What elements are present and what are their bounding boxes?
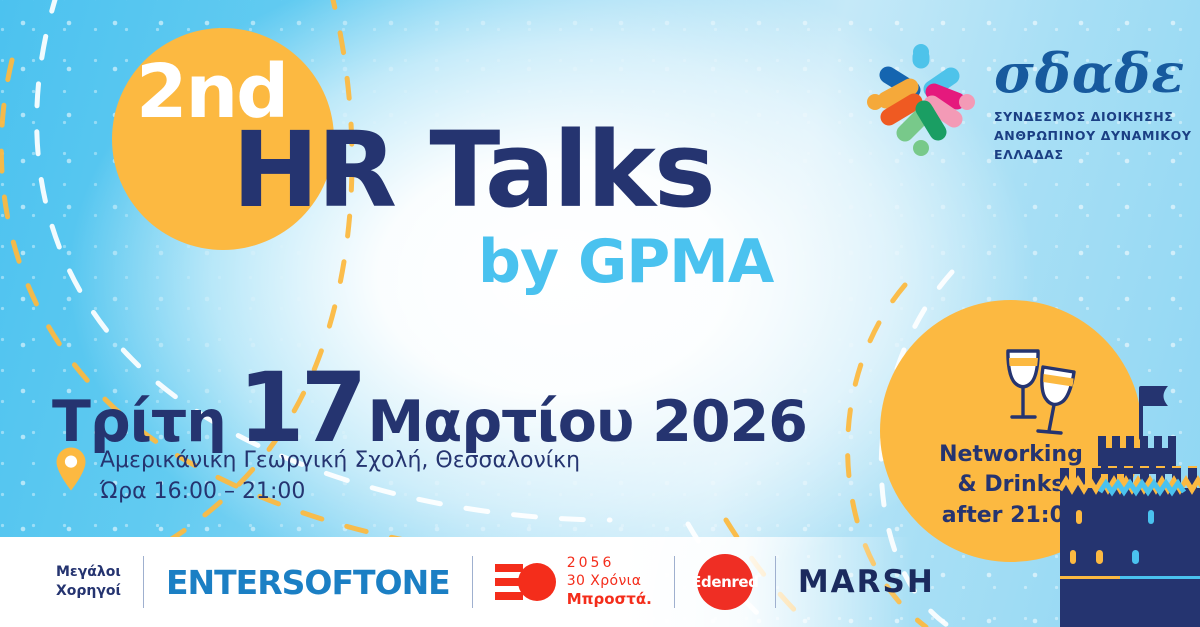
sponsor-marsh[interactable]: MARSH	[798, 564, 935, 600]
marsh-wordmark: MARSH	[798, 564, 935, 600]
organizer-wordmark: σδαδε	[994, 46, 1191, 100]
sponsor-edenred[interactable]: Edenred	[697, 554, 753, 610]
sponsor-divider	[143, 556, 144, 608]
organizer-subtitle-line-3: ΕΛΛΑΔΑΣ	[994, 146, 1191, 165]
organizer-subtitle-line-1: ΣΥΝΔΕΣΜΟΣ ΔΙΟΙΚΗΣΗΣ	[994, 108, 1191, 127]
sponsor-entersoft-one[interactable]: ENTERSOFTONE	[166, 563, 450, 602]
sponsors-label-line-2: Χορηγοί	[56, 582, 121, 601]
page-title: HR Talks	[232, 118, 714, 222]
organizer-subtitle-line-2: ΑΝΘΡΩΠΙΝΟΥ ΔΥΝΑΜΙΚΟΥ	[994, 127, 1191, 146]
title-byline: by GPMA	[478, 232, 773, 292]
sponsors-label-line-1: Μεγάλοι	[56, 563, 121, 582]
sponsor-bar: Μεγάλοι Χορηγοί ENTERSOFTONE 2056 30 Χρό…	[0, 537, 1200, 627]
sponsors-label: Μεγάλοι Χορηγοί	[56, 563, 121, 601]
venue-name: Αμερικάνικη Γεωργική Σχολή, Θεσσαλονίκη	[100, 445, 580, 476]
thirty-line-3: Μπροστά.	[567, 590, 652, 609]
thirty-line-2: 30 Χρόνια	[567, 573, 652, 591]
venue-block: Αμερικάνικη Γεωργική Σχολή, Θεσσαλονίκη …	[56, 445, 580, 507]
sponsor-divider	[674, 556, 675, 608]
location-pin-icon	[56, 447, 86, 491]
thirty-line-1: 2056	[567, 555, 652, 573]
organizer-subtitle: ΣΥΝΔΕΣΜΟΣ ΔΙΟΙΚΗΣΗΣ ΑΝΘΡΩΠΙΝΟΥ ΔΥΝΑΜΙΚΟΥ…	[994, 108, 1191, 164]
sponsor-thirty-years[interactable]: 2056 30 Χρόνια Μπροστά.	[495, 555, 652, 609]
venue-time: Ώρα 16:00 – 21:00	[100, 476, 580, 507]
sponsor-divider	[775, 556, 776, 608]
event-banner: 2nd HR Talks by GPMA Τρίτη 17 Μαρτίου 20…	[0, 0, 1200, 627]
edenred-wordmark: Edenred	[697, 554, 753, 610]
sdade-pinwheel-logo-icon	[862, 40, 980, 158]
entersoft-one-wordmark: ENTERSOFTONE	[166, 563, 450, 602]
sponsor-divider	[472, 556, 473, 608]
organizer-logo: σδαδε ΣΥΝΔΕΣΜΟΣ ΔΙΟΙΚΗΣΗΣ ΑΝΘΡΩΠΙΝΟΥ ΔΥΝ…	[862, 40, 1191, 164]
thirty-mark-icon	[495, 562, 557, 602]
